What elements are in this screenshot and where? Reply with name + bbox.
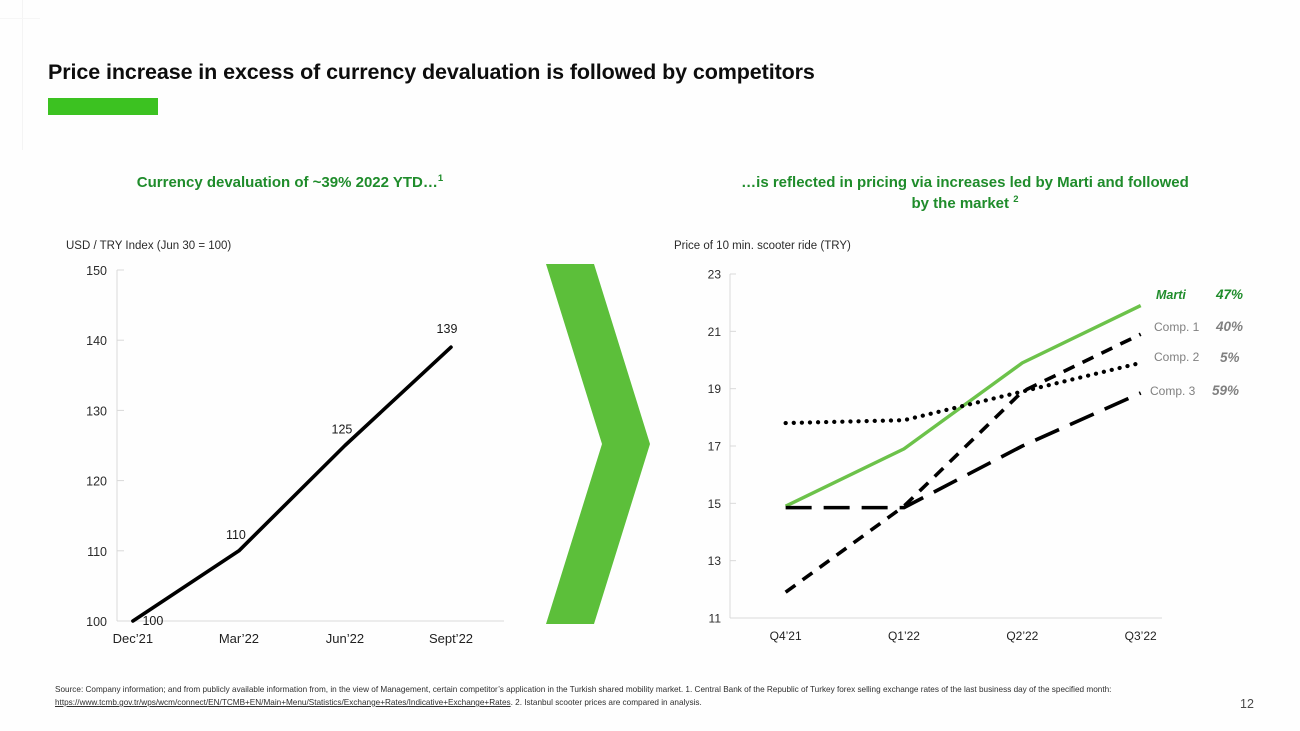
right-chart-x-tick-label: Q4’21 (770, 629, 802, 643)
slide-guide-left (22, 0, 23, 150)
left-chart-data-label: 110 (226, 528, 246, 542)
green-chevron-arrow (532, 248, 678, 640)
legend-value-comp-2: 5% (1220, 350, 1240, 365)
right-chart-x-tick-label: Q3’22 (1125, 629, 1157, 643)
left-chart-x-tick-label: Mar’22 (219, 631, 259, 646)
scooter-pricing-svg: 11131517192123 Q4’21Q1’22Q2’22Q3’22 (690, 258, 1270, 648)
right-chart-y-tick-label: 15 (708, 497, 722, 511)
right-chart-series-comp-1 (786, 334, 1141, 592)
left-chart-heading-footnote-marker: 1 (438, 173, 443, 184)
right-chart-heading-footnote-marker: 2 (1013, 194, 1018, 205)
slide-canvas: Price increase in excess of currency dev… (0, 0, 1300, 731)
left-chart-y-tick-label: 100 (86, 615, 107, 629)
right-chart-series-group (786, 306, 1141, 593)
left-chart-data-label: 100 (142, 614, 163, 628)
right-chart-x-axis-labels: Q4’21Q1’22Q2’22Q3’22 (770, 629, 1157, 643)
left-chart-series-line (133, 347, 451, 621)
right-chart-x-tick-label: Q1’22 (888, 629, 920, 643)
legend-label-comp-1: Comp. 1 (1154, 320, 1199, 334)
left-chart-data-label: 139 (437, 322, 458, 336)
left-chart-x-tick-label: Jun’22 (326, 631, 364, 646)
right-chart-y-tick-label: 11 (709, 612, 722, 626)
right-chart-x-tick-label: Q2’22 (1006, 629, 1038, 643)
left-chart-y-axis: 100110120130140150 (86, 264, 124, 629)
left-chart-y-tick-label: 110 (87, 545, 107, 559)
footnote: Source: Company information; and from pu… (55, 684, 1205, 710)
footnote-source-link[interactable]: https://www.tcmb.gov.tr/wps/wcm/connect/… (55, 698, 511, 707)
title-accent-bar (48, 98, 158, 115)
left-chart-heading: Currency devaluation of ~39% 2022 YTD…1 (60, 172, 520, 193)
footnote-text-after-link: . 2. Istanbul scooter prices are compare… (511, 698, 702, 707)
right-chart-heading-line1: …is reflected in pricing via increases l… (741, 174, 1189, 191)
legend-label-comp-2: Comp. 2 (1154, 350, 1199, 364)
page-title: Price increase in excess of currency dev… (48, 60, 815, 85)
chevron-icon (532, 248, 678, 640)
legend-value-comp-1: 40% (1216, 319, 1243, 334)
left-chart-y-tick-label: 130 (86, 404, 107, 418)
page-number: 12 (1240, 697, 1254, 711)
legend-label-marti: Marti (1156, 288, 1186, 302)
left-chart-axis-caption: USD / TRY Index (Jun 30 = 100) (66, 240, 231, 252)
right-chart-series-comp-2 (786, 363, 1141, 423)
legend-value-marti: 47% (1216, 287, 1243, 302)
right-chart-heading: …is reflected in pricing via increases l… (660, 172, 1270, 215)
currency-devaluation-svg: 100110120130140150 Dec’21Mar’22Jun’22Sep… (60, 258, 530, 648)
left-chart-heading-text: Currency devaluation of ~39% 2022 YTD… (137, 174, 438, 191)
left-chart-x-axis-labels: Dec’21Mar’22Jun’22Sept’22 (113, 631, 473, 646)
left-chart-x-tick-label: Dec’21 (113, 631, 153, 646)
footnote-text-before-link: Source: Company information; and from pu… (55, 685, 1111, 694)
left-chart-x-tick-label: Sept’22 (429, 631, 473, 646)
right-chart-y-tick-label: 17 (708, 440, 722, 454)
legend-label-comp-3: Comp. 3 (1150, 384, 1195, 398)
left-chart-y-tick-label: 120 (86, 475, 107, 489)
right-chart-heading-line2: by the market (911, 195, 1009, 212)
right-chart-axis-caption: Price of 10 min. scooter ride (TRY) (674, 240, 851, 252)
chevron-shape (546, 264, 650, 624)
left-chart-data-label: 125 (332, 423, 353, 437)
left-chart-y-tick-label: 140 (86, 334, 107, 348)
right-chart-y-tick-label: 19 (708, 382, 722, 396)
right-chart-y-tick-label: 21 (708, 325, 722, 339)
left-chart-y-tick-label: 150 (86, 264, 107, 278)
legend-value-comp-3: 59% (1212, 383, 1239, 398)
currency-devaluation-chart: 100110120130140150 Dec’21Mar’22Jun’22Sep… (60, 258, 530, 648)
right-chart-y-tick-label: 13 (708, 554, 722, 568)
scooter-pricing-chart: 11131517192123 Q4’21Q1’22Q2’22Q3’22 (690, 258, 1270, 648)
right-chart-series-comp-3 (786, 393, 1141, 508)
right-chart-y-axis: 11131517192123 (708, 268, 736, 626)
slide-guide-top (0, 18, 40, 19)
right-chart-y-tick-label: 23 (708, 268, 722, 282)
